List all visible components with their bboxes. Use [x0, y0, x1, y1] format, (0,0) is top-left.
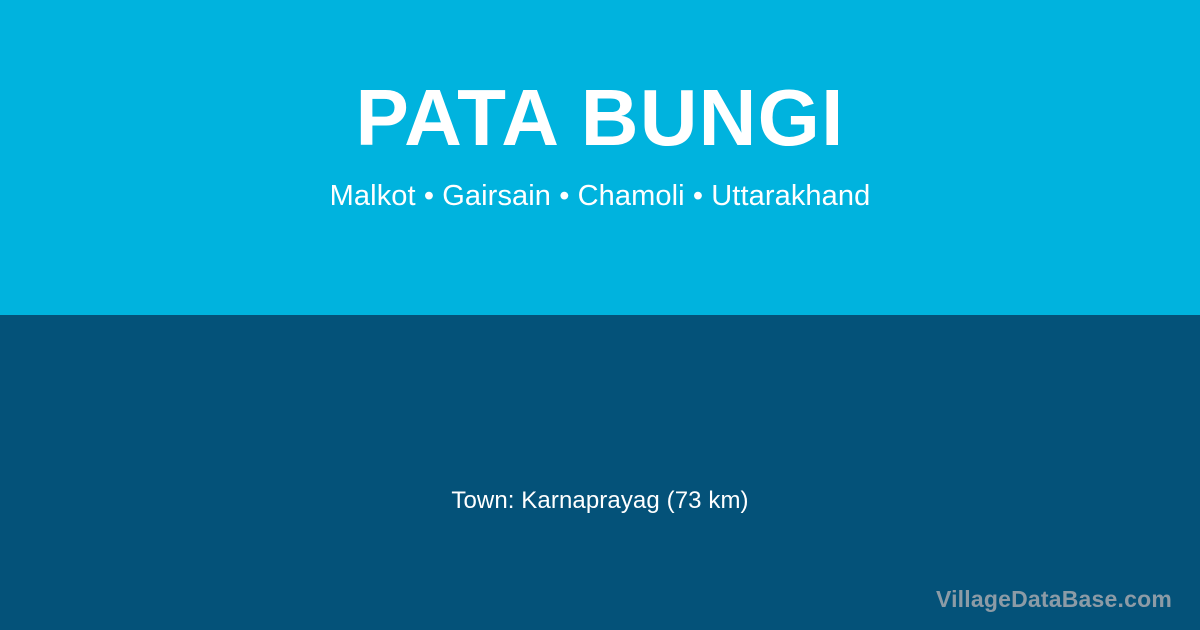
breadcrumb: Malkot • Gairsain • Chamoli • Uttarakhan… [330, 181, 871, 213]
page-title: PATA BUNGI [356, 78, 845, 158]
details-panel: Town: Karnaprayag (73 km) VillageDataBas… [0, 315, 1200, 630]
nearest-town-text: Town: Karnaprayag (73 km) [0, 487, 1200, 516]
site-watermark: VillageDataBase.com [936, 586, 1172, 614]
village-info-card: PATA BUNGI Malkot • Gairsain • Chamoli •… [0, 0, 1200, 630]
header-banner: PATA BUNGI Malkot • Gairsain • Chamoli •… [0, 0, 1200, 315]
